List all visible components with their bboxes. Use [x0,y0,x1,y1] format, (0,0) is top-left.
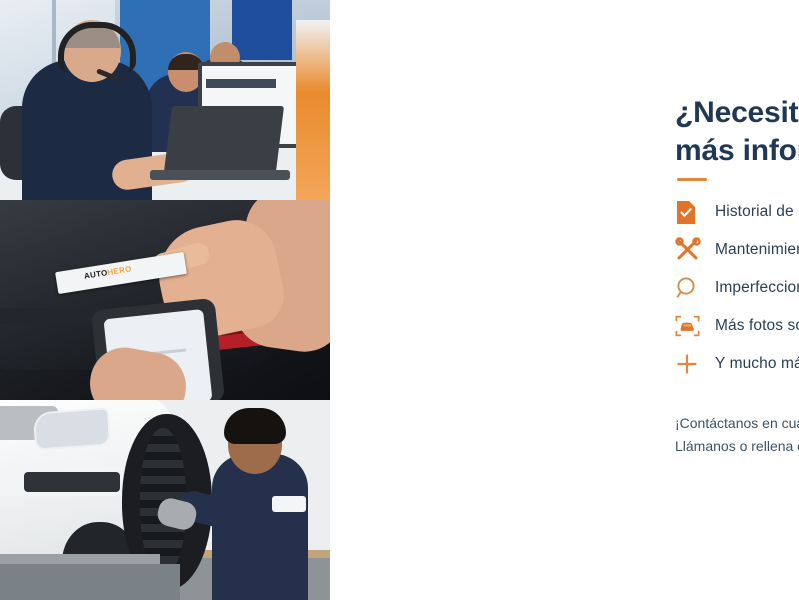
ruler-brand-part2: HERO [107,264,132,277]
document-check-icon [675,200,715,225]
feature-item-maintenance-history: Historial de mantenimientos [675,193,799,231]
bumper-air-vent [24,472,120,492]
page-title: ¿Necesitas más información? [675,94,799,169]
paragraph-line-1: ¡Contáctanos en cualquier momento para m… [675,412,799,435]
feature-item-maintenance-done: Mantenimiento realizado [675,231,799,269]
mechanic-hair [224,408,286,444]
photo-car-inspection: AUTOHERO [0,200,330,400]
headline-line-2: más información? [675,132,799,170]
contact-paragraph: ¡Contáctanos en cualquier momento para m… [675,412,799,457]
feature-label: Mantenimiento realizado [715,241,799,259]
paragraph-line-2: Llámanos o rellena el formulario de cont… [675,435,799,458]
feature-label: Historial de mantenimientos [715,203,799,221]
feature-label: Más fotos sobre el coche [715,317,799,335]
feature-item-imperfections: Imperfecciones [675,269,799,307]
feature-item-more-photos: Más fotos sobre el coche [675,307,799,345]
photo-column: AUTOHERO [0,0,330,600]
laptop-base [150,170,290,180]
plus-icon [675,352,715,376]
feature-label: Imperfecciones [715,279,799,297]
headset-worn [58,22,136,72]
laptop-screen [164,106,284,172]
tools-cross-icon [675,237,715,263]
photo-call-center [0,0,330,200]
magnifier-icon [675,276,715,300]
wall-poster [232,0,292,60]
feature-list: Historial de mantenimientos Mantenimient… [675,193,799,383]
uniform-logo-patch [272,496,306,512]
orange-equipment [296,20,330,200]
accent-divider [677,178,707,181]
car-scan-icon [675,314,715,338]
lift-platform [0,564,180,600]
feature-label: Y mucho más [715,355,799,373]
lift-platform-edge [0,554,160,564]
monitor-toolbar [206,79,276,88]
car-headlight [33,407,111,450]
headline-line-1: ¿Necesitas [675,96,799,129]
ruler-brand: AUTOHERO [83,264,132,280]
info-banner: AUTOHERO [0,0,799,600]
ruler-brand-part1: AUTO [83,268,108,281]
feature-item-much-more: Y mucho más [675,345,799,383]
content-panel: ¿Necesitas más información? Historial de… [330,0,799,600]
photo-wheel-check [0,400,330,600]
